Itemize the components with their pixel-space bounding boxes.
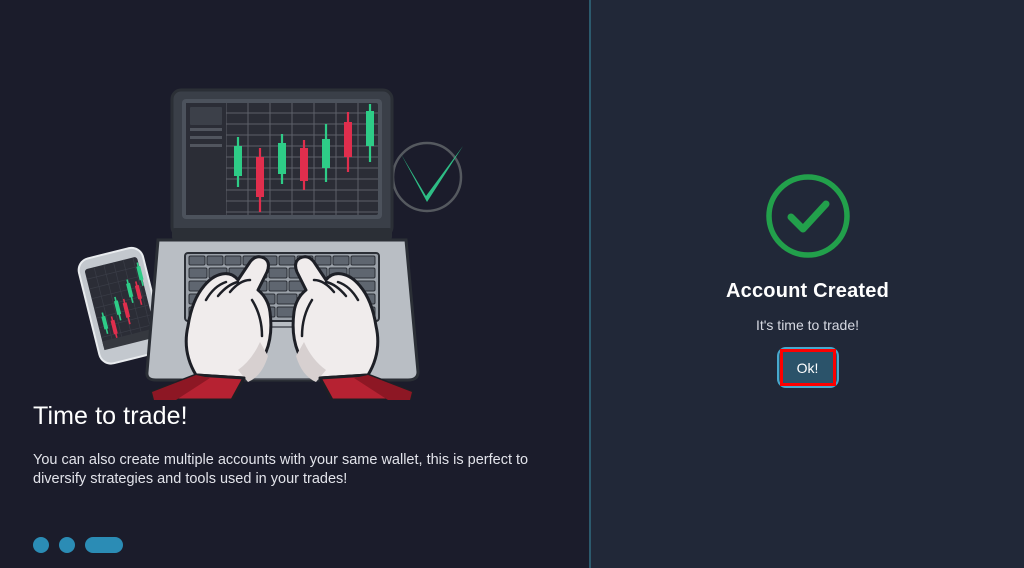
success-title: Account Created <box>726 280 889 303</box>
account-created-panel: Account Created It's time to trade! Ok! <box>591 0 1024 568</box>
panel-divider <box>589 0 591 568</box>
ok-button-container: Ok! <box>777 347 839 388</box>
page-description: You can also create multiple accounts wi… <box>33 451 533 490</box>
laptop-screen-sidebar <box>186 103 226 215</box>
page-title: Time to trade! <box>33 403 553 431</box>
onboarding-copy: Time to trade! You can also create multi… <box>33 403 553 490</box>
onboarding-left-panel: Time to trade! You can also create multi… <box>0 0 591 568</box>
pagination-dot-1[interactable] <box>33 537 49 553</box>
success-check-circle-icon <box>765 173 851 259</box>
pagination-dot-3-active[interactable] <box>85 537 123 553</box>
laptop-illustration <box>147 90 418 400</box>
pagination-dots[interactable] <box>33 537 123 553</box>
ok-button[interactable]: Ok! <box>777 347 839 388</box>
trader-at-laptop-illustration <box>0 0 591 400</box>
pagination-dot-2[interactable] <box>59 537 75 553</box>
green-check-badge <box>393 143 463 211</box>
onboarding-screen: Time to trade! You can also create multi… <box>0 0 1024 568</box>
success-subtitle: It's time to trade! <box>756 317 859 333</box>
